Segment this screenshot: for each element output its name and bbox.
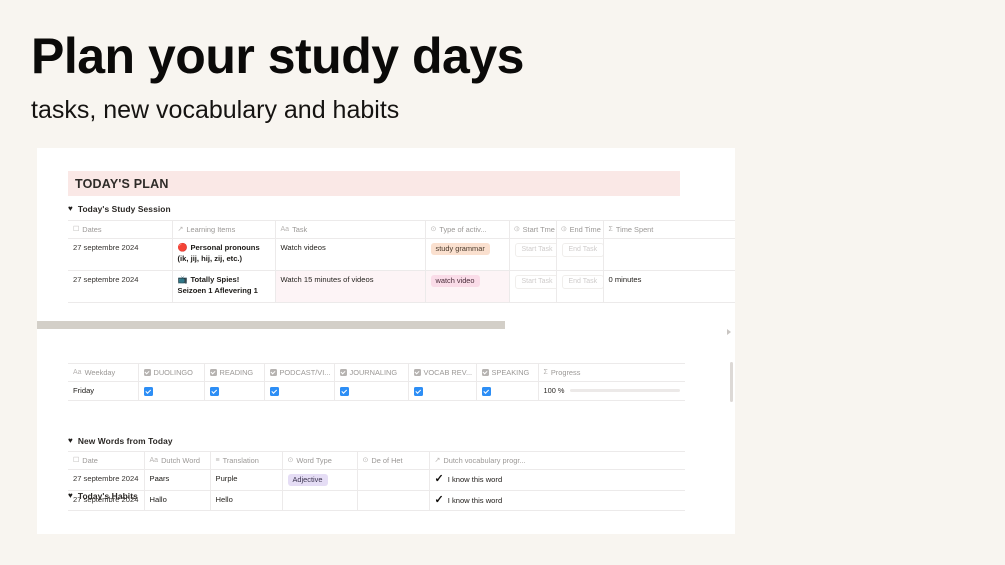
checkbox-checked-icon[interactable] [210,387,219,396]
table-row[interactable]: Friday 100 % [68,382,685,401]
text-aa-icon: Aa [281,226,290,233]
end-task-button[interactable]: End Task [562,243,604,257]
column-header-label: Type of activ... [439,225,486,234]
clock-icon: ⦶ [562,226,567,233]
cell-weekday[interactable]: Friday [68,382,138,401]
column-header-label: Time Spent [616,225,654,234]
column-header-vocab-review[interactable]: VOCAB REV... [408,364,476,382]
cell-duolingo[interactable] [138,382,204,401]
scroll-right-arrow-icon[interactable] [727,329,731,335]
text-lines-icon: ≡ [216,457,220,464]
cell-date[interactable]: 27 septembre 2024 [68,491,144,511]
table-row[interactable]: 27 septembre 2024 📺Totally Spies! Seizoe… [68,271,735,303]
column-header-label: READING [220,368,254,377]
cell-type-of-activity[interactable]: study grammar [425,239,509,271]
cell-date[interactable]: 27 septembre 2024 [68,239,172,271]
column-header-label: Task [292,225,307,234]
cell-podcast[interactable] [264,382,334,401]
column-header-label: End Time [570,225,601,234]
column-header-learning-items[interactable]: ↗Learning Items [172,221,275,239]
section-label-new-words: ♥ New Words from Today [68,436,173,446]
vertical-scrollbar-thumb[interactable] [730,362,733,402]
column-header-type-of-activity[interactable]: ⊙Type of activ... [425,221,509,239]
text-aa-icon: Aa [150,457,159,464]
checkbox-checked-icon[interactable] [270,387,279,396]
study-session-table[interactable]: ☐Dates ↗Learning Items AaTask ⊙Type of a… [68,220,735,303]
vocabulary-progress-label: I know this word [448,496,502,505]
section-label-text: Today's Study Session [78,204,171,214]
table-row[interactable]: 27 septembre 2024 Paars Purple Adjective… [68,470,685,491]
start-task-button[interactable]: Start Task [515,243,557,257]
checkbox-checked-icon[interactable] [482,387,491,396]
heart-icon: ♥ [68,205,73,213]
progress-bar-track [570,389,680,391]
column-header-label: De of Het [371,456,402,465]
cell-dutch-word[interactable]: Hallo [144,491,210,511]
relation-arrow-icon: ↗ [178,226,184,233]
column-header-start-time[interactable]: ⦶Start Tme [509,221,556,239]
cell-learning-item[interactable]: 📺Totally Spies! Seizoen 1 Aflevering 1 [172,271,275,303]
column-header-label: Date [82,456,98,465]
column-header-dates[interactable]: ☐Dates [68,221,172,239]
cell-vocabulary-progress[interactable]: ✓ I know this word [429,491,685,511]
clock-icon: ⦶ [515,226,520,233]
embedded-notion-card[interactable]: TODAY'S PLAN ♥ Today's Study Session ☐Da… [37,148,735,534]
table-row[interactable]: 27 septembre 2024 🔴Personal pronouns (ik… [68,239,735,271]
checkbox-icon [414,369,421,376]
column-header-time-spent[interactable]: ΣTime Spent [603,221,735,239]
page-subtitle: tasks, new vocabulary and habits [31,97,731,125]
column-header-word-type[interactable]: ⊙Word Type [282,452,357,470]
cell-translation[interactable]: Purple [210,470,282,491]
cell-date[interactable]: 27 septembre 2024 [68,271,172,303]
column-header-label: Dates [82,225,101,234]
todays-plan-label: TODAY'S PLAN [75,177,169,191]
cell-time-spent[interactable] [603,239,735,271]
column-header-label: Translation [223,456,259,465]
section-label-study-session: ♥ Today's Study Session [68,204,171,214]
cell-de-of-het[interactable] [357,491,429,511]
cell-progress[interactable]: 100 % [538,382,685,401]
page-title: Plan your study days [31,30,731,83]
heart-icon: ♥ [68,437,73,445]
end-task-button[interactable]: End Task [562,275,604,289]
checkbox-checked-icon[interactable] [340,387,349,396]
column-header-label: Learning Items [186,225,235,234]
notion-page-content: TODAY'S PLAN ♥ Today's Study Session ☐Da… [37,148,735,534]
cell-reading[interactable] [204,382,264,401]
activity-tag[interactable]: study grammar [431,243,490,255]
habits-table[interactable]: AaWeekday DUOLINGO READING PODCAST/VI...… [68,363,685,401]
column-header-speaking[interactable]: SPEAKING [476,364,538,382]
checkmark-icon: ✓ [435,495,444,506]
column-header-reading[interactable]: READING [204,364,264,382]
todays-plan-banner: TODAY'S PLAN [68,171,680,196]
cell-dutch-word[interactable]: Paars [144,470,210,491]
column-header-journaling[interactable]: JOURNALING [334,364,408,382]
table-header-row: ☐Date AaDutch Word ≡Translation ⊙Word Ty… [68,452,685,470]
new-words-table[interactable]: ☐Date AaDutch Word ≡Translation ⊙Word Ty… [68,451,685,511]
column-header-label: Dutch Word [161,456,200,465]
column-header-de-of-het[interactable]: ⊙De of Het [357,452,429,470]
television-icon: 📺 [178,275,188,284]
column-header-label: SPEAKING [492,368,530,377]
column-header-podcast[interactable]: PODCAST/VI... [264,364,334,382]
red-circle-icon: 🔴 [178,243,188,252]
column-header-label: PODCAST/VI... [280,368,331,377]
horizontal-scrollbar-thumb[interactable] [37,321,505,329]
column-header-duolingo[interactable]: DUOLINGO [138,364,204,382]
cell-de-of-het[interactable] [357,470,429,491]
select-circle-icon: ⊙ [363,457,369,464]
activity-tag[interactable]: watch video [431,275,480,287]
calendar-icon: ☐ [73,226,79,233]
learning-item-text: Totally Spies! Seizoen 1 Aflevering 1 [178,275,258,295]
checkbox-icon [482,369,489,376]
checkbox-icon [210,369,217,376]
word-type-tag[interactable]: Adjective [288,474,328,486]
sigma-icon: Σ [609,226,613,233]
learning-item-text: Personal pronouns (ik, jij, hij, zij, et… [178,243,260,263]
column-header-label: VOCAB REV... [424,368,473,377]
relation-arrow-icon: ↗ [435,457,441,464]
column-header-label: Weekday [85,368,116,377]
cell-task[interactable]: Watch 15 minutes of videos [275,271,425,303]
column-header-dutch-vocabulary-progress[interactable]: ↗Dutch vocabulary progr... [429,452,685,470]
cell-vocab-review[interactable] [408,382,476,401]
cell-date[interactable]: 27 septembre 2024 [68,470,144,491]
column-header-translation[interactable]: ≡Translation [210,452,282,470]
cell-translation[interactable]: Hello [210,491,282,511]
column-header-label: Start Tme [523,225,555,234]
cell-type-of-activity[interactable]: watch video [425,271,509,303]
checkbox-icon [340,369,347,376]
calendar-icon: ☐ [73,457,79,464]
cell-word-type[interactable]: Adjective [282,470,357,491]
table-header-row: AaWeekday DUOLINGO READING PODCAST/VI...… [68,364,685,382]
column-header-dutch-word[interactable]: AaDutch Word [144,452,210,470]
section-label-text: New Words from Today [78,436,173,446]
checkbox-icon [144,369,151,376]
slide-header: Plan your study days tasks, new vocabula… [31,30,731,124]
checkbox-icon [270,369,277,376]
select-circle-icon: ⊙ [431,226,437,233]
checkbox-checked-icon[interactable] [414,387,423,396]
cell-journaling[interactable] [334,382,408,401]
checkbox-checked-icon[interactable] [144,387,153,396]
cell-end-time[interactable]: End Task [556,239,603,271]
column-header-label: Dutch vocabulary progr... [443,456,525,465]
sigma-icon: Σ [544,369,548,376]
cell-end-time[interactable]: End Task [556,271,603,303]
cell-start-time[interactable]: Start Task [509,271,556,303]
cell-task[interactable]: Watch videos [275,239,425,271]
table-header-row: ☐Dates ↗Learning Items AaTask ⊙Type of a… [68,221,735,239]
cell-vocabulary-progress[interactable]: ✓ I know this word [429,470,685,491]
start-task-button[interactable]: Start Task [515,275,557,289]
text-aa-icon: Aa [73,369,82,376]
column-header-label: Progress [551,368,581,377]
cell-start-time[interactable]: Start Task [509,239,556,271]
cell-speaking[interactable] [476,382,538,401]
column-header-task[interactable]: AaTask [275,221,425,239]
column-header-label: Word Type [296,456,331,465]
column-header-end-time[interactable]: ⦶End Time [556,221,603,239]
column-header-weekday[interactable]: AaWeekday [68,364,138,382]
column-header-label: DUOLINGO [154,368,193,377]
vocabulary-progress-label: I know this word [448,475,502,484]
table-row[interactable]: 27 septembre 2024 Hallo Hello ✓ I know t… [68,491,685,511]
cell-time-spent[interactable]: 0 minutes [603,271,735,303]
cell-learning-item[interactable]: 🔴Personal pronouns (ik, jij, hij, zij, e… [172,239,275,271]
column-header-date[interactable]: ☐Date [68,452,144,470]
progress-percent-label: 100 % [544,386,565,395]
column-header-progress[interactable]: ΣProgress [538,364,685,382]
select-circle-icon: ⊙ [288,457,294,464]
checkmark-icon: ✓ [435,474,444,485]
cell-word-type[interactable] [282,491,357,511]
column-header-label: JOURNALING [350,368,398,377]
